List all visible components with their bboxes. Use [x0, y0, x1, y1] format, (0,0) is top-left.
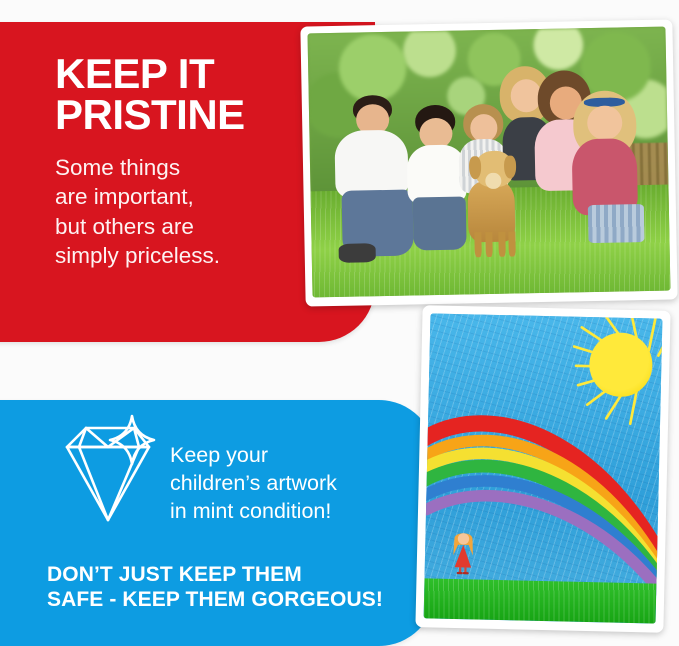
blue-panel-tagline: DON’T JUST KEEP THEM SAFE - KEEP THEM GO…: [47, 563, 407, 613]
family-with-dog-photo: [300, 19, 677, 306]
person-girl-pink: [566, 90, 648, 250]
blue-body-line-3: in mint condition!: [170, 498, 420, 526]
child-crayon-drawing-photo: [415, 305, 670, 633]
family-photo-image: [307, 27, 670, 298]
crayon-grass: [424, 579, 657, 624]
tagline-line-2: SAFE - KEEP THEM GORGEOUS!: [47, 588, 407, 613]
blue-body-line-1: Keep your: [170, 442, 420, 470]
diamond-sparkle-icon: [45, 408, 165, 533]
poster-canvas: KEEP IT PRISTINE Some things are importa…: [0, 0, 679, 646]
golden-retriever-dog: [457, 151, 531, 258]
blue-promo-panel: Keep your children’s artwork in mint con…: [0, 400, 435, 646]
blue-body-line-2: children’s artwork: [170, 470, 420, 498]
crayon-girl-figure: [448, 524, 479, 583]
child-drawing-image: [424, 313, 663, 623]
tagline-line-1: DON’T JUST KEEP THEM: [47, 563, 407, 588]
blue-panel-body: Keep your children’s artwork in mint con…: [170, 442, 420, 526]
